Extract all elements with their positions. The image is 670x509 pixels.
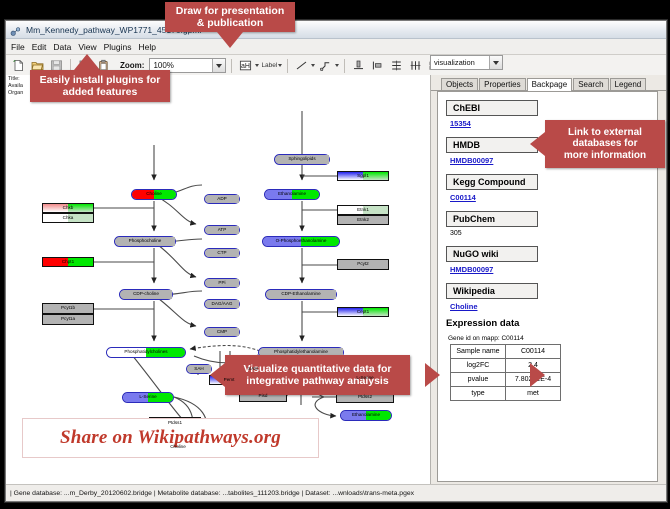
callout-plugins-line2: added features	[63, 86, 138, 98]
node-fill-stripe	[266, 290, 336, 299]
metabolite-node-choline[interactable]: Choline	[131, 189, 177, 200]
cell-label: pvalue	[451, 373, 506, 387]
tab-properties[interactable]: Properties	[479, 78, 525, 90]
connector-tool-group[interactable]	[317, 57, 339, 74]
metabolite-node-cdp-ethanolamine[interactable]: CDP-Ethanolamine	[265, 289, 337, 300]
cell-label: log2FC	[451, 359, 506, 373]
gene-node-cept1[interactable]: Cept1	[337, 307, 389, 317]
gene-node-pcyt2[interactable]: Pcyt2	[337, 259, 389, 270]
menu-bar: File Edit Data View Plugins Help	[6, 39, 666, 55]
table-row: type met	[451, 387, 561, 401]
label-tool-group[interactable]: Label	[261, 62, 282, 69]
node-fill-stripe	[132, 190, 154, 199]
visualization-dropdown-arrow[interactable]	[489, 56, 502, 69]
menu-item-file[interactable]: File	[11, 42, 25, 52]
callout-draw-arrow	[217, 32, 243, 48]
callout-visualize-arrow-right	[425, 363, 440, 387]
metabolite-node-l-serine[interactable]: L-Serine	[122, 392, 174, 403]
node-fill-stripe	[43, 304, 93, 313]
menu-item-view[interactable]: View	[78, 42, 96, 52]
metabolite-node-ethanolamine[interactable]: Ethanolamine	[264, 189, 320, 200]
callout-links-line2: databases for	[572, 138, 637, 150]
db-section-nugo: NuGO wiki HMDB00097	[446, 244, 657, 274]
db-header-nugo: NuGO wiki	[446, 246, 538, 262]
db-link-wikipedia[interactable]: Choline	[450, 302, 657, 311]
cell-label: type	[451, 387, 506, 401]
menu-item-plugins[interactable]: Plugins	[104, 42, 132, 52]
gene-node-etnk1[interactable]: Etnk1	[337, 205, 389, 215]
db-header-pubchem: PubChem	[446, 211, 538, 227]
db-header-chebi: ChEBI	[446, 100, 538, 116]
tab-search[interactable]: Search	[573, 78, 608, 90]
menu-item-data[interactable]: Data	[53, 42, 71, 52]
callout-visualize: Visualize quantitative data for integrat…	[225, 355, 410, 395]
gene-node-etnk2[interactable]: Etnk2	[337, 215, 389, 225]
screenshot-root: Mm_Kennedy_pathway_WP1771_45176.gpml Fil…	[0, 0, 670, 509]
side-panel-tabs: Objects Properties Backpage Search Legen…	[431, 75, 666, 91]
gene-node-pcyt1b[interactable]: Pcyt1b	[42, 303, 94, 314]
visualization-value: visualization	[434, 58, 475, 67]
db-header-hmdb: HMDB	[446, 137, 538, 153]
toolbar-separator-2	[231, 59, 232, 73]
db-link-nugo[interactable]: HMDB00097	[450, 265, 657, 274]
metabolite-node-sah[interactable]: SAH	[186, 364, 212, 374]
toolbar-separator-3	[287, 59, 288, 73]
metabolite-node-adp[interactable]: ADP	[204, 194, 240, 204]
tab-legend[interactable]: Legend	[610, 78, 647, 90]
text-tool-group[interactable]: aH	[237, 57, 259, 74]
zoom-value: 100%	[153, 61, 173, 70]
node-fill-stripe	[205, 279, 239, 287]
gene-node-chpt1[interactable]: Chpt1	[42, 257, 94, 267]
db-link-kegg[interactable]: C00114	[450, 193, 657, 202]
node-fill-stripe	[338, 260, 388, 269]
expression-data-title: Expression data	[446, 318, 657, 329]
node-fill-stripe	[292, 190, 319, 199]
callout-links-line3: more information	[564, 150, 646, 162]
menu-item-edit[interactable]: Edit	[32, 42, 47, 52]
gene-node-chka[interactable]: Chka	[42, 213, 94, 223]
callout-plugins-line1: Easily install plugins for	[40, 74, 161, 86]
node-fill-stripe	[115, 237, 175, 246]
callout-visualize-arrow-left	[210, 363, 225, 387]
node-fill-stripe	[338, 216, 388, 224]
node-fill-stripe	[338, 206, 363, 214]
callout-visualize-line1: Visualize quantitative data for	[243, 363, 391, 375]
callout-visualize-line2: integrative pathway analysis	[246, 375, 388, 387]
callout-draw-line1: Draw for presentation	[176, 5, 285, 17]
node-fill-stripe	[68, 204, 93, 212]
metabolite-node-dag-aag[interactable]: DAG/AAG	[204, 299, 240, 309]
db-header-wikipedia: Wikipedia	[446, 283, 538, 299]
metabolite-node-ctp[interactable]: CTP	[204, 248, 240, 258]
toolbar-separator-4	[344, 59, 345, 73]
metabolite-node-cdp-choline[interactable]: CDP-choline	[119, 289, 173, 300]
node-fill-stripe	[120, 290, 172, 299]
status-text: | Gene database: ...m_Derby_20120602.bri…	[6, 490, 414, 497]
distribute-horizontal-icon[interactable]	[407, 57, 424, 74]
metabolite-node-atp[interactable]: ATP	[204, 225, 240, 235]
node-fill-stripe	[363, 206, 388, 214]
callout-draw-line2: & publication	[197, 17, 264, 29]
connector-tool-icon[interactable]	[317, 57, 334, 74]
metabolite-node-o-phosphoethanolamine[interactable]: O-Phosphoethanolamine	[262, 236, 340, 247]
distribute-vertical-icon[interactable]	[388, 57, 405, 74]
line-tool-icon[interactable]	[293, 57, 310, 74]
label-tool-label: Label	[261, 62, 277, 69]
callout-plugins: Easily install plugins for added feature…	[30, 70, 170, 102]
node-fill-stripe	[263, 237, 301, 246]
node-fill-stripe	[187, 365, 211, 373]
metabolite-node-sphingolipids[interactable]: Sphingolipids	[274, 154, 330, 165]
callout-expression-arrow	[530, 363, 545, 387]
node-fill-stripe	[154, 190, 176, 199]
metabolite-node-ppi[interactable]: PPi	[204, 278, 240, 288]
callout-links-line1: Link to external	[568, 127, 642, 139]
new-file-icon[interactable]	[10, 57, 27, 74]
node-fill-stripe	[205, 226, 239, 234]
metabolite-node-cmp[interactable]: CMP	[204, 327, 240, 337]
node-fill-stripe	[363, 308, 388, 316]
metabolite-node-ethanolamine[interactable]: Ethanolamine	[340, 410, 392, 421]
text-tool-icon[interactable]: aH	[237, 57, 254, 74]
node-fill-stripe	[68, 258, 93, 266]
node-fill-stripe	[43, 315, 93, 324]
align-left-icon[interactable]	[369, 57, 386, 74]
visualization-combo[interactable]: visualization	[430, 55, 503, 70]
node-fill-stripe	[338, 308, 363, 316]
table-row: Sample name C00114	[451, 345, 561, 359]
tab-objects[interactable]: Objects	[441, 78, 478, 90]
cell-value: C00114	[506, 345, 561, 359]
cell-value: met	[506, 387, 561, 401]
share-banner: Share on Wikipathways.org	[22, 418, 319, 458]
zoom-label: Zoom:	[120, 61, 144, 70]
db-section-pubchem: PubChem 305	[446, 209, 657, 237]
db-value-pubchem: 305	[450, 230, 657, 237]
line-tool-group[interactable]	[293, 57, 315, 74]
node-fill-stripe	[43, 214, 68, 222]
node-fill-stripe	[205, 328, 239, 336]
metabolite-node-phosphocholine[interactable]: Phosphocholine	[114, 236, 176, 247]
node-fill-stripe	[146, 348, 185, 357]
metabolite-node-phosphatidylcholines[interactable]: Phosphatidylcholines	[106, 347, 186, 358]
gene-node-chkb[interactable]: Chkb	[42, 203, 94, 213]
node-fill-stripe	[341, 411, 366, 420]
callout-plugins-arrow	[74, 54, 100, 70]
node-fill-stripe	[148, 393, 173, 402]
node-fill-stripe	[338, 172, 363, 180]
node-fill-stripe	[43, 258, 68, 266]
db-section-wikipedia: Wikipedia Choline	[446, 281, 657, 311]
node-fill-stripe	[43, 204, 68, 212]
node-fill-stripe	[68, 214, 93, 222]
app-icon	[10, 24, 21, 35]
title-bar: Mm_Kennedy_pathway_WP1771_45176.gpml	[6, 21, 666, 39]
cell-label: Sample name	[451, 345, 506, 359]
node-fill-stripe	[205, 300, 239, 308]
svg-text:aH: aH	[241, 63, 250, 70]
callout-links: Link to external databases for more info…	[545, 120, 665, 168]
menu-item-help[interactable]: Help	[139, 42, 156, 52]
gene-node-pcyt1a[interactable]: Pcyt1a	[42, 314, 94, 325]
status-bar: | Gene database: ...m_Derby_20120602.bri…	[6, 484, 666, 501]
callout-links-arrow	[530, 132, 545, 156]
node-fill-stripe	[205, 249, 239, 257]
node-fill-stripe	[205, 195, 239, 203]
tab-backpage[interactable]: Backpage	[527, 78, 573, 91]
node-fill-stripe	[107, 348, 146, 357]
node-fill-stripe	[265, 190, 292, 199]
zoom-dropdown-arrow[interactable]	[212, 59, 225, 72]
align-bottom-icon[interactable]	[350, 57, 367, 74]
node-fill-stripe	[301, 237, 339, 246]
callout-draw: Draw for presentation & publication	[165, 2, 295, 32]
node-fill-stripe	[363, 172, 388, 180]
node-fill-stripe	[123, 393, 148, 402]
db-section-kegg: Kegg Compound C00114	[446, 172, 657, 202]
gene-node-sgpl1[interactable]: Sgpl1	[337, 171, 389, 181]
share-banner-text: Share on Wikipathways.org	[60, 427, 281, 449]
gene-id-line: Gene id on mapp: C00114	[448, 335, 657, 342]
node-fill-stripe	[275, 155, 329, 164]
db-header-kegg: Kegg Compound	[446, 174, 538, 190]
node-fill-stripe	[366, 411, 391, 420]
